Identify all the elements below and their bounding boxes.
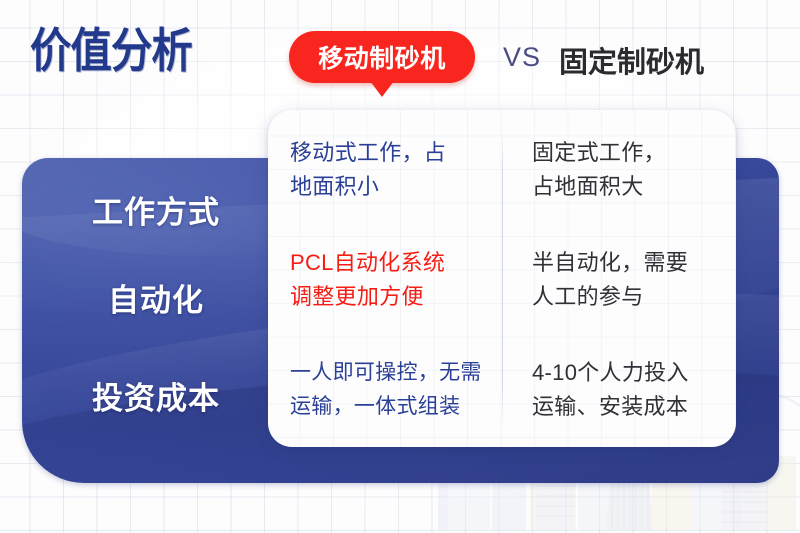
mobile-machine-badge[interactable]: 移动制砂机 [289, 31, 475, 83]
column-fixed: 固定式工作， 占地面积大 半自动化，需要 人工的参与 4-10个人力投入 运输、… [502, 110, 736, 447]
fixed-machine-title: 固定制砂机 [559, 39, 704, 81]
cell-line: 运输，一体式组装 [290, 390, 494, 424]
vs-label: VS [503, 42, 541, 73]
cell-line: 人工的参与 [532, 280, 728, 314]
page-title: 价值分析 [30, 26, 192, 76]
badge-tail-icon [370, 81, 394, 97]
cell-line: PCL自动化系统 [290, 246, 494, 280]
poster-canvas: 价值分析 移动制砂机 VS 固定制砂机 工作方式 自动化 投资成本 移动式工作，… [0, 0, 800, 533]
mobile-machine-badge-label: 移动制砂机 [289, 31, 475, 83]
cell-line: 4-10个人力投入 [532, 356, 728, 390]
row-label-automation: 自动化 [56, 275, 256, 320]
cell-line: 占地面积大 [532, 170, 728, 204]
cell-fixed-work-mode: 固定式工作， 占地面积大 [532, 136, 728, 232]
poster-header: 价值分析 移动制砂机 VS 固定制砂机 [0, 0, 800, 110]
cell-mobile-automation: PCL自动化系统 调整更加方便 [290, 246, 494, 342]
cell-fixed-automation: 半自动化，需要 人工的参与 [532, 246, 728, 342]
cell-line: 半自动化，需要 [532, 246, 728, 280]
cell-fixed-investment-cost: 4-10个人力投入 运输、安装成本 [532, 356, 728, 447]
comparison-card: 移动式工作，占 地面积小 PCL自动化系统 调整更加方便 一人即可操控，无需 运… [268, 110, 736, 447]
cell-mobile-investment-cost: 一人即可操控，无需 运输，一体式组装 [290, 356, 494, 447]
row-label-work-mode: 工作方式 [56, 187, 256, 232]
column-mobile: 移动式工作，占 地面积小 PCL自动化系统 调整更加方便 一人即可操控，无需 运… [268, 110, 502, 447]
cell-line: 调整更加方便 [290, 280, 494, 314]
cell-line: 运输、安装成本 [532, 390, 728, 424]
row-label-investment-cost: 投资成本 [56, 373, 256, 418]
cell-line: 移动式工作，占 [290, 136, 494, 170]
cell-line: 地面积小 [290, 170, 494, 204]
cell-mobile-work-mode: 移动式工作，占 地面积小 [290, 136, 494, 232]
cell-line: 一人即可操控，无需 [290, 356, 494, 390]
cell-line: 固定式工作， [532, 136, 728, 170]
